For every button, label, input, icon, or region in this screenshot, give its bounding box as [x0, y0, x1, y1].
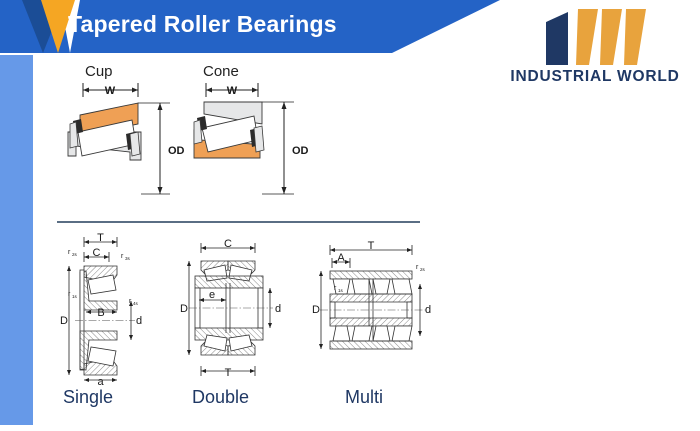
cone-label: Cone	[203, 63, 239, 80]
svg-text:W: W	[227, 85, 238, 97]
page-title: Tapered Roller Bearings	[68, 11, 337, 38]
svg-text:e: e	[209, 289, 215, 301]
slide-page: Tapered Roller Bearings INDUSTRIAL WORLD	[0, 0, 700, 431]
svg-text:d: d	[425, 304, 431, 316]
svg-text:r: r	[68, 249, 71, 256]
svg-text:1s: 1s	[338, 288, 344, 293]
svg-text:D: D	[312, 304, 320, 316]
svg-text:OD: OD	[292, 145, 308, 157]
iw-monogram-icon	[540, 8, 655, 66]
multi-row-diagram: T A	[308, 228, 443, 386]
double-label: Double	[192, 387, 249, 408]
svg-text:d: d	[275, 303, 281, 315]
cup-diagram: W OD	[46, 62, 186, 212]
single-row-diagram: T C r2s r3s r1s r4	[55, 228, 180, 386]
svg-text:2s: 2s	[420, 267, 426, 272]
svg-text:D: D	[180, 303, 188, 315]
multi-label: Multi	[345, 387, 383, 408]
single-label: Single	[63, 387, 113, 408]
svg-text:d: d	[136, 315, 142, 327]
svg-text:W: W	[105, 85, 116, 97]
cone-diagram: W OD	[178, 62, 308, 212]
svg-text:T: T	[97, 232, 104, 244]
svg-text:a: a	[97, 376, 104, 386]
left-accent-rail	[0, 55, 33, 425]
svg-text:C: C	[93, 247, 101, 259]
svg-text:2s: 2s	[72, 252, 78, 257]
cup-label: Cup	[85, 63, 113, 80]
svg-text:A: A	[337, 252, 345, 264]
double-row-diagram: C e	[173, 228, 293, 386]
svg-text:r: r	[121, 253, 124, 260]
brand-logo: INDUSTRIAL WORLD	[495, 8, 695, 93]
brand-name: INDUSTRIAL WORLD	[495, 68, 695, 86]
svg-text:T: T	[225, 367, 232, 379]
svg-text:r: r	[416, 264, 419, 271]
svg-text:D: D	[60, 315, 68, 327]
svg-text:C: C	[224, 238, 232, 250]
svg-text:1s: 1s	[72, 294, 78, 299]
svg-text:3s: 3s	[125, 256, 131, 261]
svg-text:T: T	[368, 240, 375, 252]
section-divider	[57, 221, 420, 223]
svg-text:4s: 4s	[133, 301, 139, 306]
svg-text:B: B	[97, 307, 104, 319]
svg-text:r: r	[68, 291, 71, 298]
